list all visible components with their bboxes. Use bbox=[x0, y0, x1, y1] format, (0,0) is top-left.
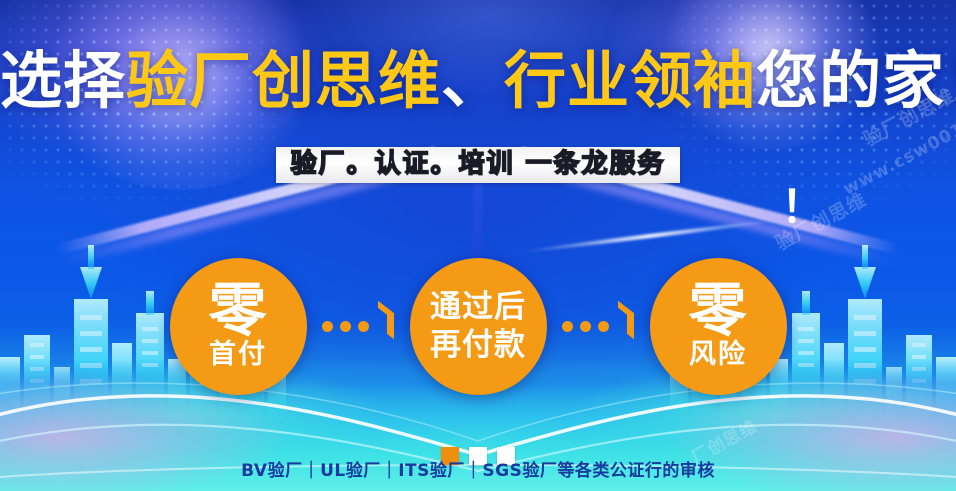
promo-banner: 选择验厂创思维、行业领袖您的家！ 验厂。认证。培训 一条龙服务 ！ 零 首付 通… bbox=[0, 0, 956, 491]
subtitle-text: 验厂。认证。培训 一条龙服务 bbox=[290, 151, 665, 177]
step-badge-zero-downpayment[interactable]: 零 首付 bbox=[170, 258, 307, 395]
arrow-dot bbox=[580, 321, 591, 332]
arrow-dot bbox=[562, 321, 573, 332]
step-badge-zero-risk[interactable]: 零 风险 bbox=[650, 258, 787, 395]
subtitle-band: 验厂。认证。培训 一条龙服务 bbox=[276, 147, 679, 183]
arrow-icon-2 bbox=[547, 314, 650, 340]
page-title: 选择验厂创思维、行业领袖您的家！ bbox=[0, 50, 956, 112]
headline-part-5: 您的家！ bbox=[756, 44, 956, 117]
headline-part-3: 、 bbox=[441, 44, 504, 117]
step-2-line-2: 再付款 bbox=[430, 327, 526, 365]
arrow-dot bbox=[598, 321, 609, 332]
step-2-line-1: 通过后 bbox=[430, 289, 526, 327]
exclamation-mark: ！ bbox=[781, 186, 825, 230]
arrow-dot bbox=[322, 321, 333, 332]
chevron-right-icon bbox=[378, 300, 394, 339]
banner-caption: BV验厂｜UL验厂｜ITS验厂｜SGS验厂等各类公证行的审核 bbox=[0, 463, 956, 480]
arrow-dot bbox=[358, 321, 369, 332]
chevron-right-icon bbox=[618, 300, 634, 339]
arrow-icon-1 bbox=[307, 314, 410, 340]
step-1-small-text: 首付 bbox=[209, 340, 267, 370]
step-3-big-text: 零 bbox=[688, 283, 747, 339]
subtitle-wrapper: 验厂。认证。培训 一条龙服务 bbox=[0, 147, 956, 183]
step-1-big-text: 零 bbox=[208, 283, 267, 339]
headline-part-4: 行业领袖 bbox=[504, 44, 756, 117]
steps-row: 零 首付 通过后 再付款 零 风险 bbox=[0, 258, 956, 395]
headline-part-1: 选择 bbox=[0, 44, 126, 117]
arrow-dot bbox=[340, 321, 351, 332]
step-3-small-text: 风险 bbox=[689, 340, 747, 370]
headline-part-2: 验厂创思维 bbox=[126, 44, 441, 117]
step-badge-pay-after-pass[interactable]: 通过后 再付款 bbox=[410, 258, 547, 395]
